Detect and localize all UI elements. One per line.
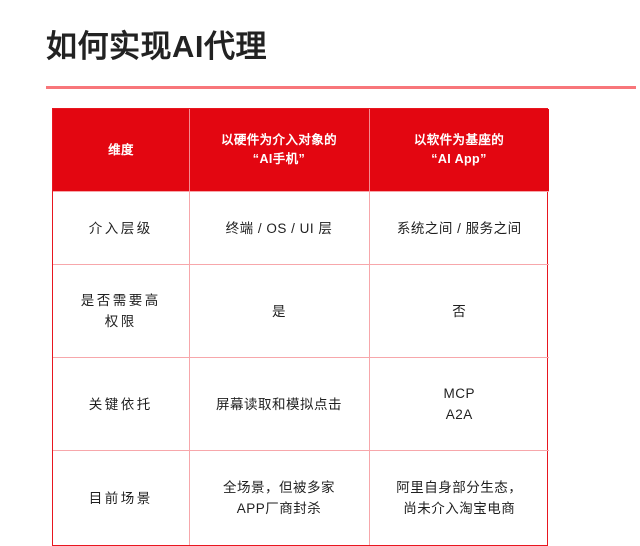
header-hardware-line-2: “AI手机” bbox=[195, 150, 363, 169]
row-3-dimension-line-1: 关键依托 bbox=[61, 394, 181, 415]
header-hardware-line-1: 以硬件为介入对象的 bbox=[195, 131, 363, 150]
row-4-hardware-line-2: APP厂商封杀 bbox=[198, 498, 361, 519]
row-2-software-cell: 否 bbox=[369, 265, 549, 358]
header-software-line-1: 以软件为基座的 bbox=[375, 131, 543, 150]
table-header-cell-hardware: 以硬件为介入对象的 “AI手机” bbox=[189, 109, 369, 192]
row-2-hardware-line-1: 是 bbox=[198, 301, 361, 322]
row-3-dimension-cell: 关键依托 bbox=[53, 358, 189, 451]
header-dimension-line-1: 维度 bbox=[59, 141, 183, 160]
row-2-dimension-line-1: 是否需要高 bbox=[61, 290, 181, 311]
table-header-cell-software: 以软件为基座的 “AI App” bbox=[369, 109, 549, 192]
row-3-hardware-cell: 屏幕读取和模拟点击 bbox=[189, 358, 369, 451]
row-4-software-line-1: 阿里自身部分生态， bbox=[378, 477, 542, 498]
table-row: 是否需要高 权限 是 否 bbox=[53, 265, 549, 358]
row-4-dimension-line-1: 目前场景 bbox=[61, 488, 181, 509]
table-header-row: 维度 以硬件为介入对象的 “AI手机” 以软件为基座的 “AI App” bbox=[53, 109, 549, 192]
row-4-hardware-cell: 全场景，但被多家 APP厂商封杀 bbox=[189, 451, 369, 546]
table-row: 介入层级 终端 / OS / UI 层 系统之间 / 服务之间 bbox=[53, 192, 549, 265]
table-body: 介入层级 终端 / OS / UI 层 系统之间 / 服务之间 是否需要高 权限 bbox=[53, 192, 549, 546]
row-1-software-cell: 系统之间 / 服务之间 bbox=[369, 192, 549, 265]
row-2-hardware-cell: 是 bbox=[189, 265, 369, 358]
table-row: 目前场景 全场景，但被多家 APP厂商封杀 阿里自身部分生态， 尚未介入淘宝电商 bbox=[53, 451, 549, 546]
row-1-software-line-1: 系统之间 / 服务之间 bbox=[378, 218, 542, 239]
row-2-dimension-cell: 是否需要高 权限 bbox=[53, 265, 189, 358]
row-2-dimension-line-2: 权限 bbox=[61, 311, 181, 332]
title-underline-rule bbox=[46, 86, 636, 89]
row-4-hardware-line-1: 全场景，但被多家 bbox=[198, 477, 361, 498]
row-3-software-cell: MCP A2A bbox=[369, 358, 549, 451]
slide-root: 如何实现AI代理 维度 以硬件为介入对象的 “AI手机” 以软件为基座的 bbox=[0, 0, 640, 511]
row-1-dimension-cell: 介入层级 bbox=[53, 192, 189, 265]
row-1-dimension-line-1: 介入层级 bbox=[61, 218, 181, 239]
row-4-software-cell: 阿里自身部分生态， 尚未介入淘宝电商 bbox=[369, 451, 549, 546]
comparison-table: 维度 以硬件为介入对象的 “AI手机” 以软件为基座的 “AI App” 介入层… bbox=[53, 109, 549, 545]
title-block: 如何实现AI代理 bbox=[46, 26, 636, 68]
row-4-dimension-cell: 目前场景 bbox=[53, 451, 189, 546]
table-header: 维度 以硬件为介入对象的 “AI手机” 以软件为基座的 “AI App” bbox=[53, 109, 549, 192]
row-1-hardware-cell: 终端 / OS / UI 层 bbox=[189, 192, 369, 265]
row-4-software-line-2: 尚未介入淘宝电商 bbox=[378, 498, 542, 519]
header-software-line-2: “AI App” bbox=[375, 150, 543, 169]
row-3-hardware-line-1: 屏幕读取和模拟点击 bbox=[198, 394, 361, 415]
row-3-software-line-2: A2A bbox=[378, 404, 542, 425]
table-row: 关键依托 屏幕读取和模拟点击 MCP A2A bbox=[53, 358, 549, 451]
row-1-hardware-line-1: 终端 / OS / UI 层 bbox=[198, 218, 361, 239]
comparison-table-container: 维度 以硬件为介入对象的 “AI手机” 以软件为基座的 “AI App” 介入层… bbox=[52, 108, 548, 546]
row-3-software-line-1: MCP bbox=[378, 383, 542, 404]
table-header-cell-dimension: 维度 bbox=[53, 109, 189, 192]
page-title: 如何实现AI代理 bbox=[46, 26, 636, 68]
row-2-software-line-1: 否 bbox=[378, 301, 542, 322]
